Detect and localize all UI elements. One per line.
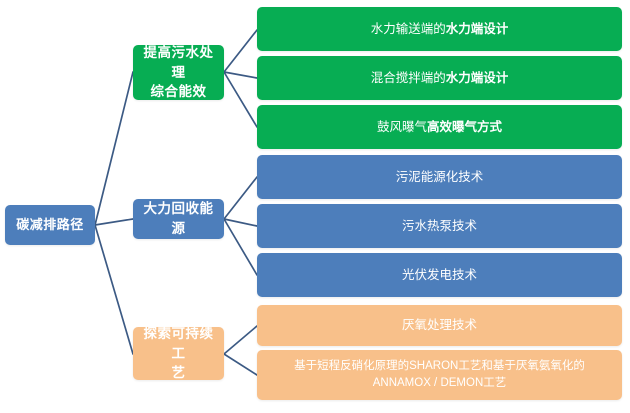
leaf-node-2-3[interactable]: 光伏发电技术	[257, 253, 622, 297]
mindmap-canvas: 碳减排路径 提高污水处理 综合能效 水力输送端的水力端设计 混合搅拌端的水力端设…	[0, 0, 630, 413]
leaf-node-2-1[interactable]: 污泥能源化技术	[257, 155, 622, 199]
root-node[interactable]: 碳减排路径	[5, 205, 95, 245]
connector-root-to-branch-1	[95, 72, 133, 225]
leaf-node-3-1-text: 厌氧处理技术	[263, 316, 616, 334]
connector-branch-2-to-leaf-3	[224, 219, 257, 275]
leaf-node-1-3-text: 鼓风曝气	[377, 120, 427, 134]
connector-branch-1-to-leaf-2	[224, 72, 257, 78]
leaf-node-2-3-text: 光伏发电技术	[263, 266, 616, 284]
leaf-node-2-2[interactable]: 污水热泵技术	[257, 204, 622, 248]
leaf-node-3-2-text-line2: ANNAMOX / DEMON工艺	[373, 377, 507, 389]
leaf-node-3-1[interactable]: 厌氧处理技术	[257, 305, 622, 346]
connector-branch-2-to-leaf-1	[224, 177, 257, 219]
root-node-label: 碳减排路径	[11, 216, 89, 235]
branch-node-3[interactable]: 探索可持续工 艺	[133, 327, 224, 380]
branch-node-1-label-line2: 综合能效	[151, 84, 207, 99]
leaf-node-1-2[interactable]: 混合搅拌端的水力端设计	[257, 56, 622, 100]
connector-branch-2-to-leaf-2	[224, 219, 257, 226]
connector-branch-1-to-leaf-3	[224, 72, 257, 127]
leaf-node-1-2-text-bold: 水力端设计	[446, 71, 509, 85]
connector-root-to-branch-3	[95, 225, 133, 354]
branch-node-2-label: 大力回收能源	[139, 199, 218, 238]
leaf-node-1-2-text: 混合搅拌端的	[371, 71, 446, 85]
leaf-node-2-2-text: 污水热泵技术	[263, 217, 616, 235]
branch-node-1-label-line1: 提高污水处理	[144, 45, 214, 80]
connector-root-to-branch-2	[95, 219, 133, 225]
leaf-node-2-1-text: 污泥能源化技术	[263, 168, 616, 186]
leaf-node-1-1-text-bold: 水力端设计	[446, 22, 509, 36]
leaf-node-1-3-text-bold: 高效曝气方式	[427, 120, 502, 134]
connector-branch-1-to-leaf-1	[224, 30, 257, 72]
leaf-node-1-3[interactable]: 鼓风曝气高效曝气方式	[257, 105, 622, 149]
branch-node-2[interactable]: 大力回收能源	[133, 199, 224, 239]
branch-node-3-label-line2: 艺	[172, 365, 186, 380]
branch-node-3-label-line1: 探索可持续工	[144, 326, 214, 361]
branch-node-1[interactable]: 提高污水处理 综合能效	[133, 45, 224, 100]
leaf-node-1-1[interactable]: 水力输送端的水力端设计	[257, 7, 622, 51]
branch-node-3-label: 探索可持续工 艺	[139, 324, 218, 383]
branch-node-1-label: 提高污水处理 综合能效	[139, 43, 218, 102]
connector-branch-3-to-leaf-2	[224, 354, 257, 375]
leaf-node-3-2-text-line1: 基于短程反硝化原理的SHARON工艺和基于厌氧氨氧化的	[294, 360, 585, 372]
leaf-node-1-1-text: 水力输送端的	[371, 22, 446, 36]
connector-branch-3-to-leaf-1	[224, 326, 257, 354]
leaf-node-3-2[interactable]: 基于短程反硝化原理的SHARON工艺和基于厌氧氨氧化的 ANNAMOX / DE…	[257, 350, 622, 400]
